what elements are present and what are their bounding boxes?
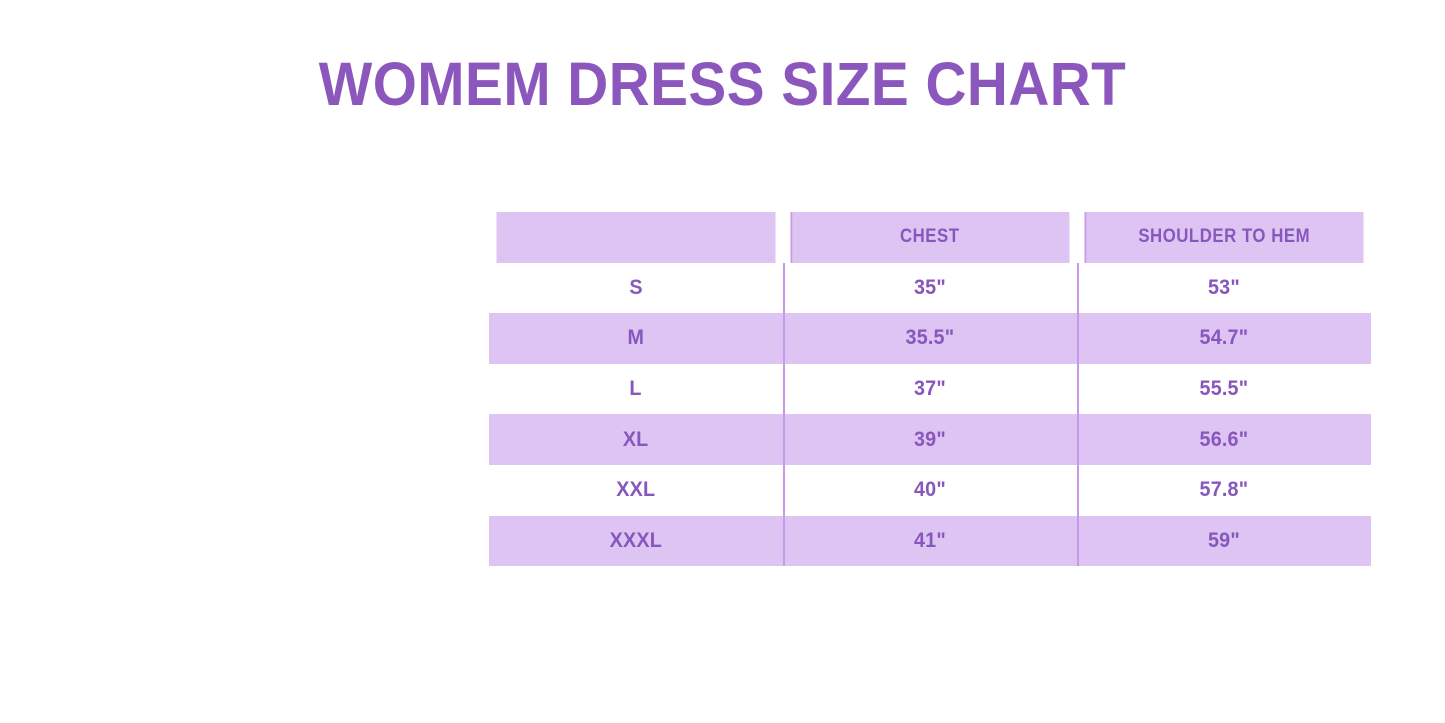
table-header: CHEST SHOULDER TO HEM: [489, 212, 1371, 263]
shoulder-to-hem-value: 56.6": [1200, 428, 1249, 452]
cell-size: M: [489, 313, 783, 364]
table-body: S 35" 53" M 35.5" 54.7": [489, 263, 1371, 567]
table-row: S 35" 53": [489, 263, 1371, 314]
chest-value: 37": [914, 377, 946, 401]
chest-value: 40": [914, 478, 946, 502]
size-chart-table: CHEST SHOULDER TO HEM S 35" 53": [489, 212, 1371, 566]
cell-size: XL: [489, 414, 783, 465]
cell-chest: 39": [783, 414, 1077, 465]
size-label: XXL: [617, 478, 656, 502]
cell-size: XXXL: [489, 516, 783, 567]
cell-shoulder-to-hem: 54.7": [1077, 313, 1371, 364]
cell-shoulder-to-hem: 56.6": [1077, 414, 1371, 465]
shoulder-to-hem-value: 54.7": [1200, 326, 1249, 350]
shoulder-to-hem-value: 55.5": [1200, 377, 1249, 401]
table-row: XXXL 41" 59": [489, 516, 1371, 567]
table-row: XXL 40" 57.8": [489, 465, 1371, 516]
size-label: L: [630, 377, 642, 401]
table-row: XL 39" 56.6": [489, 414, 1371, 465]
cell-shoulder-to-hem: 59": [1077, 516, 1371, 567]
chest-value: 39": [914, 428, 946, 452]
chest-value: 41": [914, 529, 946, 553]
cell-size: L: [489, 364, 783, 415]
column-header-shoulder-to-hem: SHOULDER TO HEM: [1084, 212, 1363, 263]
cell-chest: 40": [783, 465, 1077, 516]
size-chart-page: WOMEM DRESS SIZE CHART CHEST SHOULDER TO…: [0, 0, 1445, 723]
chest-value: 35.5": [906, 326, 955, 350]
shoulder-to-hem-value: 57.8": [1200, 478, 1249, 502]
page-title: WOMEM DRESS SIZE CHART: [51, 52, 1395, 117]
cell-size: S: [489, 263, 783, 314]
cell-chest: 37": [783, 364, 1077, 415]
column-header-shoulder-to-hem-label: SHOULDER TO HEM: [1138, 226, 1310, 248]
size-label: XL: [623, 428, 649, 452]
column-header-size: [496, 212, 775, 263]
shoulder-to-hem-value: 53": [1208, 276, 1240, 300]
cell-chest: 35.5": [783, 313, 1077, 364]
cell-chest: 35": [783, 263, 1077, 314]
cell-shoulder-to-hem: 57.8": [1077, 465, 1371, 516]
size-label: S: [629, 276, 642, 300]
column-header-chest-label: CHEST: [900, 226, 960, 248]
cell-chest: 41": [783, 516, 1077, 567]
cell-shoulder-to-hem: 53": [1077, 263, 1371, 314]
table-row: M 35.5" 54.7": [489, 313, 1371, 364]
table-row: L 37" 55.5": [489, 364, 1371, 415]
cell-size: XXL: [489, 465, 783, 516]
size-label: XXXL: [610, 529, 662, 553]
chest-value: 35": [914, 276, 946, 300]
shoulder-to-hem-value: 59": [1208, 529, 1240, 553]
size-label: M: [628, 326, 645, 350]
table-header-row: CHEST SHOULDER TO HEM: [489, 212, 1371, 263]
cell-shoulder-to-hem: 55.5": [1077, 364, 1371, 415]
column-header-chest: CHEST: [790, 212, 1069, 263]
